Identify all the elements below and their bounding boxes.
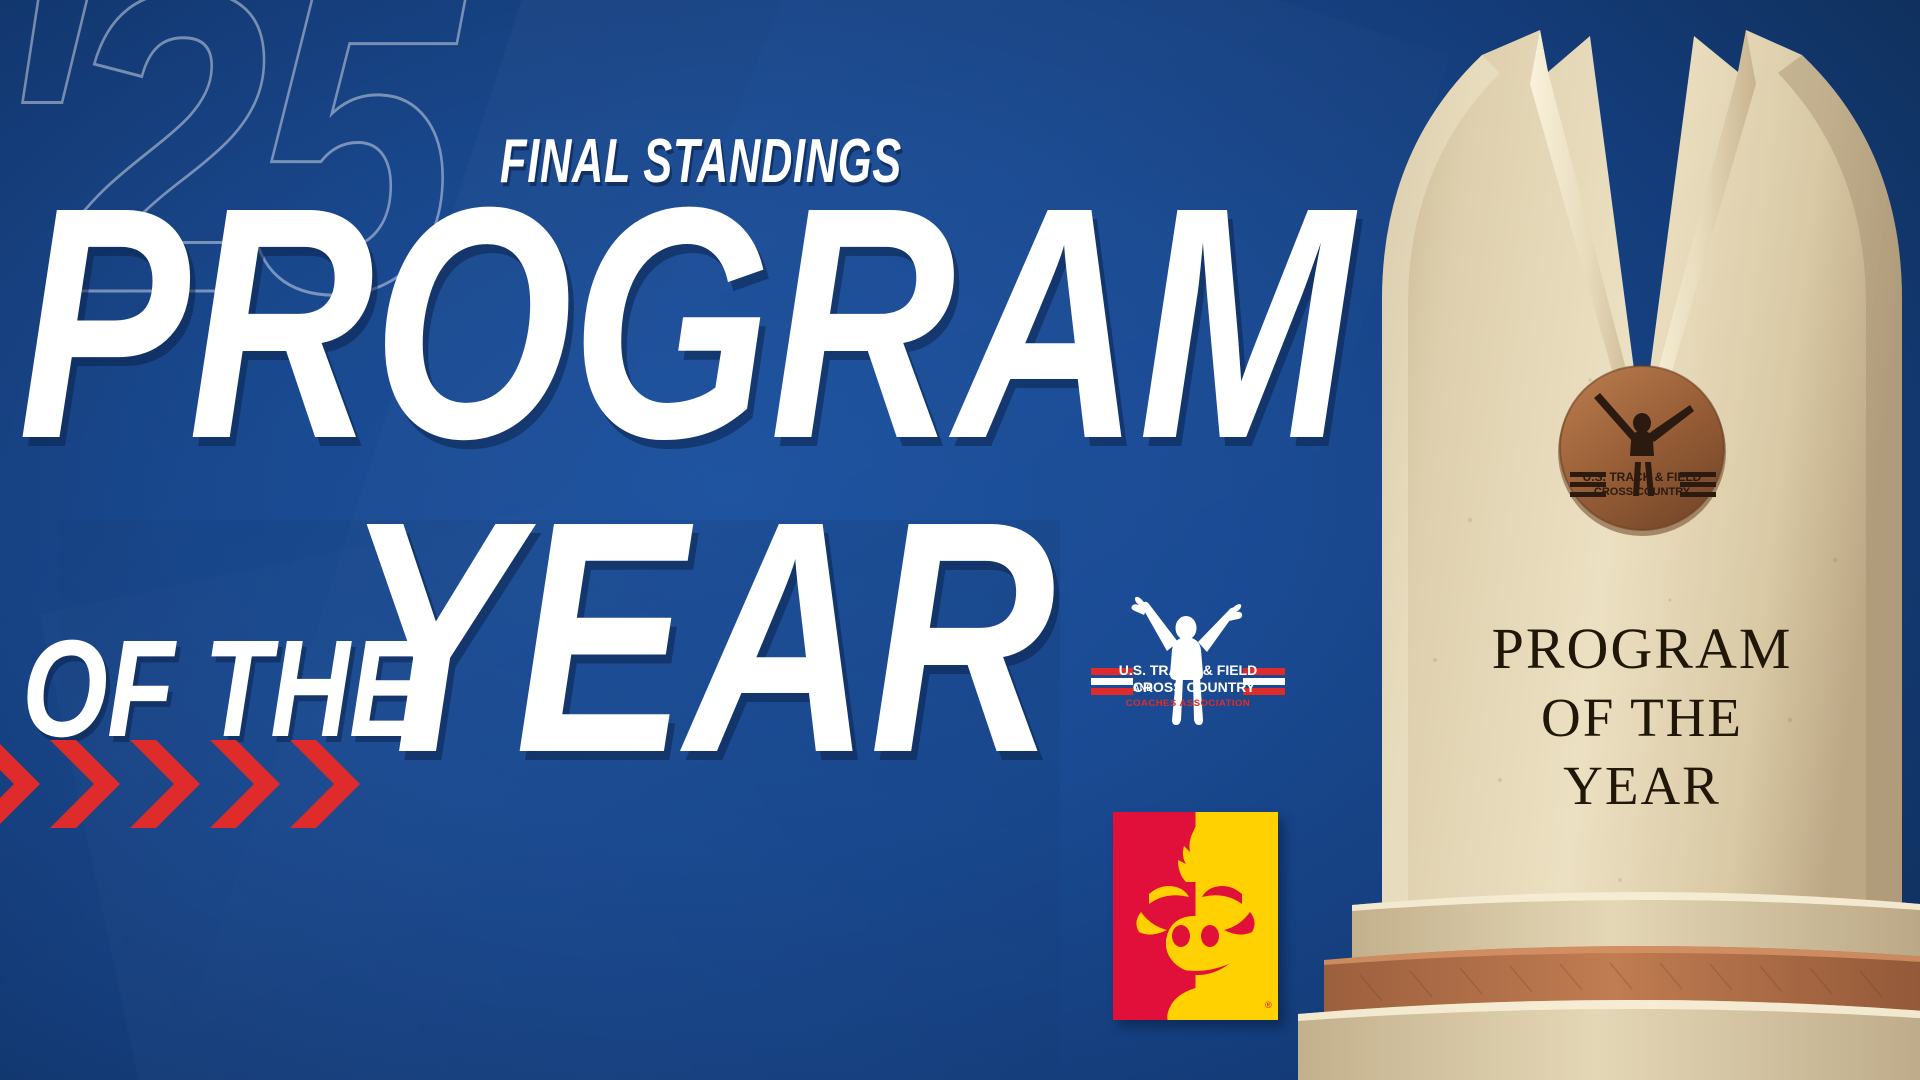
medallion-line1: U.S. TRACK & FIELD: [1583, 470, 1702, 484]
trophy-engraving-line3: YEAR: [1563, 755, 1721, 816]
ustfccca-line2: CROSS COUNTRY: [1133, 679, 1256, 695]
poster-canvas: '25 FINAL STANDINGS PROGRAM OF THE YEAR: [0, 0, 1920, 1080]
registered-mark-icon: ®: [1265, 1000, 1272, 1010]
headline-program: PROGRAM: [18, 178, 1351, 468]
ustfccca-line3: COACHES ASSOCIATION: [1126, 698, 1251, 709]
headline-year: YEAR: [345, 492, 1054, 782]
chevron-right-icon: [126, 738, 204, 830]
chevron-arrow-group: [0, 738, 364, 830]
ustfccca-logo: U.S. TRACK & FIELD AND CROSS COUNTRY COA…: [1083, 582, 1293, 742]
team-logo-pittsburg-state-gorillas: ®: [1113, 812, 1278, 1020]
chevron-right-icon: [286, 738, 364, 830]
trophy-base: [1298, 892, 1920, 1080]
chevron-right-icon: [206, 738, 284, 830]
chevron-right-icon: [0, 738, 44, 830]
medallion-line2: CROSS COUNTRY: [1594, 486, 1691, 498]
ustfccca-line1: U.S. TRACK & FIELD: [1119, 662, 1257, 678]
trophy-engraving-line2: OF THE: [1541, 687, 1743, 748]
trophy-medallion: U.S. TRACK & FIELD CROSS COUNTRY: [1558, 366, 1726, 536]
headline-block: FINAL STANDINGS PROGRAM OF THE YEAR: [0, 0, 1250, 1080]
trophy-engraving-line1: PROGRAM: [1492, 616, 1793, 681]
chevron-right-icon: [46, 738, 124, 830]
trophy-image: U.S. TRACK & FIELD CROSS COUNTRY: [1290, 0, 1920, 1080]
